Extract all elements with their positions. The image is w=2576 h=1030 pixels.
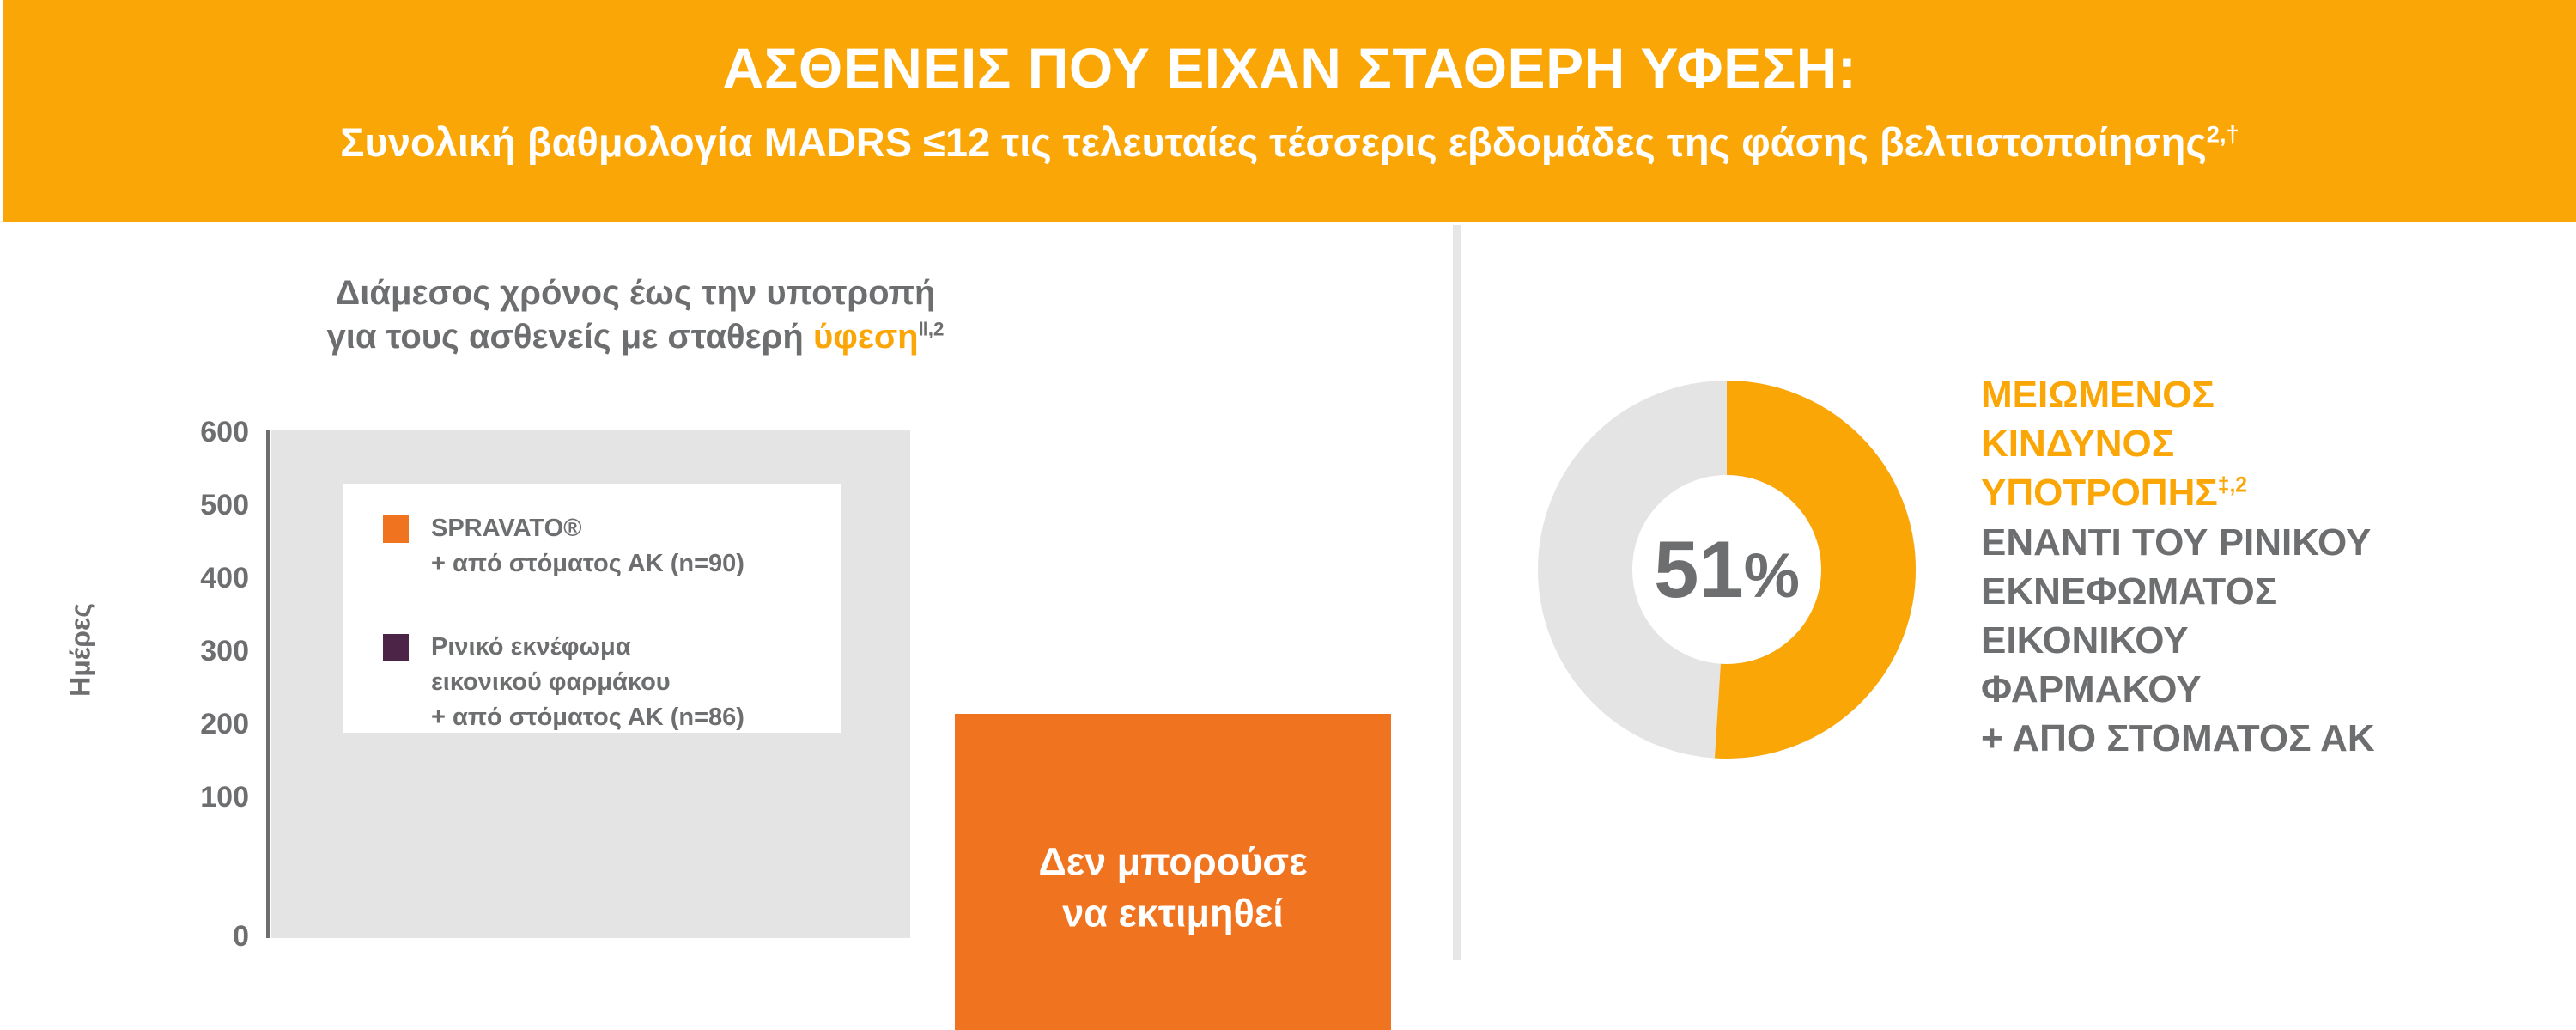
legend-item-placebo: Ρινικό εκνέφωμα εικονικού φαρμάκου + από… (383, 630, 744, 736)
donut-value-number: 51 (1654, 524, 1744, 614)
legend-item-spravato: SPRAVATO® + από στόματος ΑΚ (n=90) (383, 511, 744, 582)
bar-spravato: Δεν μπορούσε να εκτιμηθεί (955, 714, 1391, 1030)
page-title: ΑΣΘΕΝΕΙΣ ΠΟΥ ΕΙΧΑΝ ΣΤΑΘΕΡΗ ΥΦΕΣΗ: (3, 40, 2576, 96)
chart-title-accent: ύφεση (813, 318, 919, 356)
y-tick-300: 300 (112, 637, 249, 666)
header-band: ΑΣΘΕΝΕΙΣ ΠΟΥ ΕΙΧΑΝ ΣΤΑΘΕΡΗ ΥΦΕΣΗ: Συνολι… (3, 0, 2576, 222)
y-tick-100: 100 (112, 783, 249, 812)
risk-line-3: ΕΙΚΟΝΙΚΟΥ (1981, 616, 2565, 665)
legend-label-placebo: Ρινικό εκνέφωμα εικονικού φαρμάκου + από… (431, 630, 744, 736)
y-tick-0: 0 (112, 922, 249, 951)
y-tick-500: 500 (112, 491, 249, 520)
chart-title: Διάμεσος χρόνος έως την υποτροπή για του… (206, 271, 1065, 359)
panel-divider (1453, 225, 1461, 960)
y-axis-label: Ημέρες (65, 539, 97, 762)
page-subtitle-text: Συνολική βαθμολογία MADRS ≤12 τις τελευτ… (340, 119, 2207, 165)
donut-percent-symbol: % (1744, 540, 1800, 611)
risk-line-1: ΕΝΑΝΤΙ ΤΟΥ ΡΙΝΙΚΟΥ (1981, 518, 2565, 567)
risk-line-2: ΕΚΝΕΦΩΜΑΤΟΣ (1981, 567, 2565, 616)
y-axis-line (266, 430, 270, 938)
page-subtitle: Συνολική βαθμολογία MADRS ≤12 τις τελευτ… (3, 122, 2576, 162)
chart-title-footnote: ‖,2 (919, 319, 945, 340)
donut-center-value: 51% (1538, 529, 1916, 610)
risk-accent-line-3: ΥΠΟΤΡΟΠΗΣ‡,2 (1981, 468, 2565, 517)
legend-swatch-purple-icon (383, 634, 409, 661)
chart-title-line-1: Διάμεσος χρόνος έως την υποτροπή (336, 274, 936, 312)
right-panel: 51% ΜΕΙΩΜΕΝΟΣ ΚΙΝΔΥΝΟΣ ΥΠΟΤΡΟΠΗΣ‡,2 ΕΝΑΝ… (1461, 222, 2576, 1030)
chart-title-line-2: για τους ασθενείς με σταθερή (327, 318, 813, 356)
donut-chart: 51% (1538, 381, 1916, 759)
risk-footnote: ‡,2 (2218, 474, 2247, 497)
infographic-canvas: ΑΣΘΕΝΕΙΣ ΠΟΥ ΕΙΧΑΝ ΣΤΑΘΕΡΗ ΥΦΕΣΗ: Συνολι… (0, 0, 2576, 1030)
page-subtitle-footnote: 2,† (2207, 120, 2239, 147)
legend-label-spravato: SPRAVATO® + από στόματος ΑΚ (n=90) (431, 511, 744, 582)
y-tick-600: 600 (112, 417, 249, 447)
chart-legend: SPRAVATO® + από στόματος ΑΚ (n=90) Ρινικ… (343, 484, 841, 733)
risk-line-4: ΦΑΡΜΑΚΟΥ (1981, 665, 2565, 714)
y-tick-200: 200 (112, 710, 249, 739)
left-panel: Διάμεσος χρόνος έως την υποτροπή για του… (0, 222, 1453, 1030)
y-tick-400: 400 (112, 564, 249, 593)
bar-spravato-label: Δεν μπορούσε να εκτιμηθεί (955, 836, 1391, 940)
risk-accent-line-3-text: ΥΠΟΤΡΟΠΗΣ (1981, 472, 2218, 514)
risk-statement: ΜΕΙΩΜΕΝΟΣ ΚΙΝΔΥΝΟΣ ΥΠΟΤΡΟΠΗΣ‡,2 ΕΝΑΝΤΙ Τ… (1981, 370, 2565, 764)
legend-swatch-orange-icon (383, 515, 409, 543)
risk-accent-line-2: ΚΙΝΔΥΝΟΣ (1981, 419, 2565, 468)
risk-accent-line-1: ΜΕΙΩΜΕΝΟΣ (1981, 370, 2565, 419)
risk-line-5: + ΑΠΟ ΣΤΟΜΑΤΟΣ ΑΚ (1981, 714, 2565, 763)
